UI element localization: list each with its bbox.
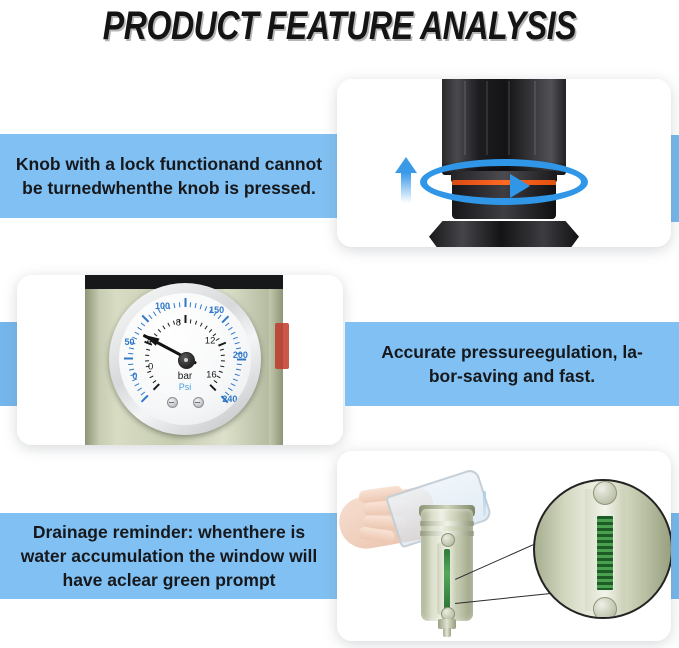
regulator-red-marker [275,323,289,369]
feature-banner-drainage-reminder: Drainage reminder: whenthere is water ac… [0,513,338,599]
pressure-gauge-photo: 0 50 100 150 200 240 0 4 8 12 16 bar Psi [17,275,343,445]
gauge-tick-bar [185,315,187,323]
gauge-tick-psi [225,322,229,326]
gauge-tick-psi [195,303,197,308]
gauge-tick-psi [134,332,139,335]
gauge-tick-psi [235,374,240,376]
drain-valve-tip [443,628,451,637]
gauge-screw-right [193,397,204,408]
gauge-tick-bar [153,380,157,383]
gauge-tick-psi [237,364,242,365]
infographic-page: PRODUCT FEATURE ANALYSIS Knob with a loc… [0,0,679,648]
feature-image-card-knob [337,79,671,247]
filter-bowl-ring-1 [420,521,474,526]
gauge-tick-psi [200,304,202,309]
gauge-screw-left [167,397,178,408]
page-title: PRODUCT FEATURE ANALYSIS [68,4,611,49]
gauge-face: 0 50 100 150 200 240 0 4 8 12 16 bar Psi [119,293,251,425]
magnifier-callout [533,479,671,619]
gauge-tick-psi [124,358,133,360]
gauge-tick-bar [205,325,208,329]
gauge-tick-psi [173,303,175,308]
gauge-tick-bar [167,323,170,327]
gauge-tick-bar [219,371,223,373]
gauge-tick-psi [233,337,238,340]
gauge-tick-bar [221,360,225,361]
gauge-unit-bar: bar [178,371,192,382]
gauge-tick-psi [141,322,145,326]
gauge-tick-psi [228,387,233,391]
gauge-tick-bar [218,342,226,347]
gauge-tick-bar [162,325,165,329]
bowl-screw-top [441,533,455,547]
gauge-tick-bar [209,384,216,391]
gauge-tick-psi [134,383,139,386]
gauge-bar-label-12: 12 [205,335,216,346]
gauge-tick-psi [148,315,152,319]
gauge-bar-label-16: 16 [206,369,217,380]
feature-text-drainage-reminder: Drainage reminder: whenthere is water ac… [8,520,330,592]
feature-image-card-gauge: 0 50 100 150 200 240 0 4 8 12 16 bar Psi [17,275,343,445]
gauge-tick-psi [237,359,246,361]
gauge-bezel: 0 50 100 150 200 240 0 4 8 12 16 bar Psi [109,283,261,435]
gauge-tick-bar [209,329,212,333]
gauge-tick-psi [128,364,133,365]
gauge-tick-psi [137,327,142,331]
gauge-tick-bar [145,355,149,356]
gauge-tick-psi [236,369,241,371]
gauge-tick-psi [128,353,133,354]
gauge-tick-psi [179,302,180,307]
gauge-tick-bar [147,371,151,373]
gauge-hub [178,352,195,369]
gauge-tick-bar [214,380,218,383]
gauge-tick-bar [195,321,197,325]
water-stream [483,491,486,517]
gauge-tick-bar [217,376,221,379]
gauge-tick-psi [231,332,236,335]
gauge-tick-psi [218,315,222,319]
gauge-tick-bar [190,319,192,323]
gauge-tick-bar [146,349,150,351]
feature-banner-knob-lock: Knob with a lock functionand cannot be t… [0,134,338,218]
gauge-tick-psi [129,347,134,349]
gauge-tick-psi [141,392,145,396]
gauge-tick-bar [173,321,175,325]
rotation-arrow-icon [510,174,530,198]
gauge-tick-psi [141,395,149,403]
rotation-ring-icon [420,159,588,205]
feature-text-pressure-regulation: Accurate pressureegulation, la-bor-savin… [367,340,657,388]
gauge-tick-bar [216,338,220,341]
gauge-tick-bar [200,323,203,327]
gauge-tick-psi [153,311,157,316]
green-level-indicator [444,549,450,609]
gauge-tick-bar [153,383,160,390]
gauge-tick-bar [220,349,224,351]
magnified-screw-top [593,481,617,505]
gauge-tick-bar [220,366,224,368]
gauge-tick-psi [228,327,233,331]
gauge-tick-psi [235,342,240,344]
feature-text-knob-lock: Knob with a lock functionand cannot be t… [10,152,328,200]
gauge-tick-psi [137,387,142,391]
magnified-green-indicator [596,515,614,591]
gauge-tick-bar [149,376,153,379]
gauge-tick-bar [145,360,149,361]
gauge-tick-psi [185,298,187,307]
feature-image-card-drainage [337,451,671,641]
gauge-tick-psi [190,302,191,307]
gauge-tick-bar [221,355,225,356]
up-arrow-icon [395,157,417,203]
regulator-edge-left [85,289,99,445]
knob-hex-base [429,221,579,247]
gauge-tick-psi [233,378,238,381]
magnified-screw-bottom [593,597,617,619]
feature-banner-pressure-regulation: Accurate pressureegulation, la-bor-savin… [345,322,679,406]
gauge-tick-psi [204,306,207,311]
drainage-window-photo [337,451,671,641]
gauge-tick-bar [158,329,161,333]
gauge-unit-psi: Psi [179,382,192,392]
accent-tab-left-middle [0,322,17,406]
knob-lock-photo [337,79,671,247]
gauge-tick-psi [231,383,236,386]
